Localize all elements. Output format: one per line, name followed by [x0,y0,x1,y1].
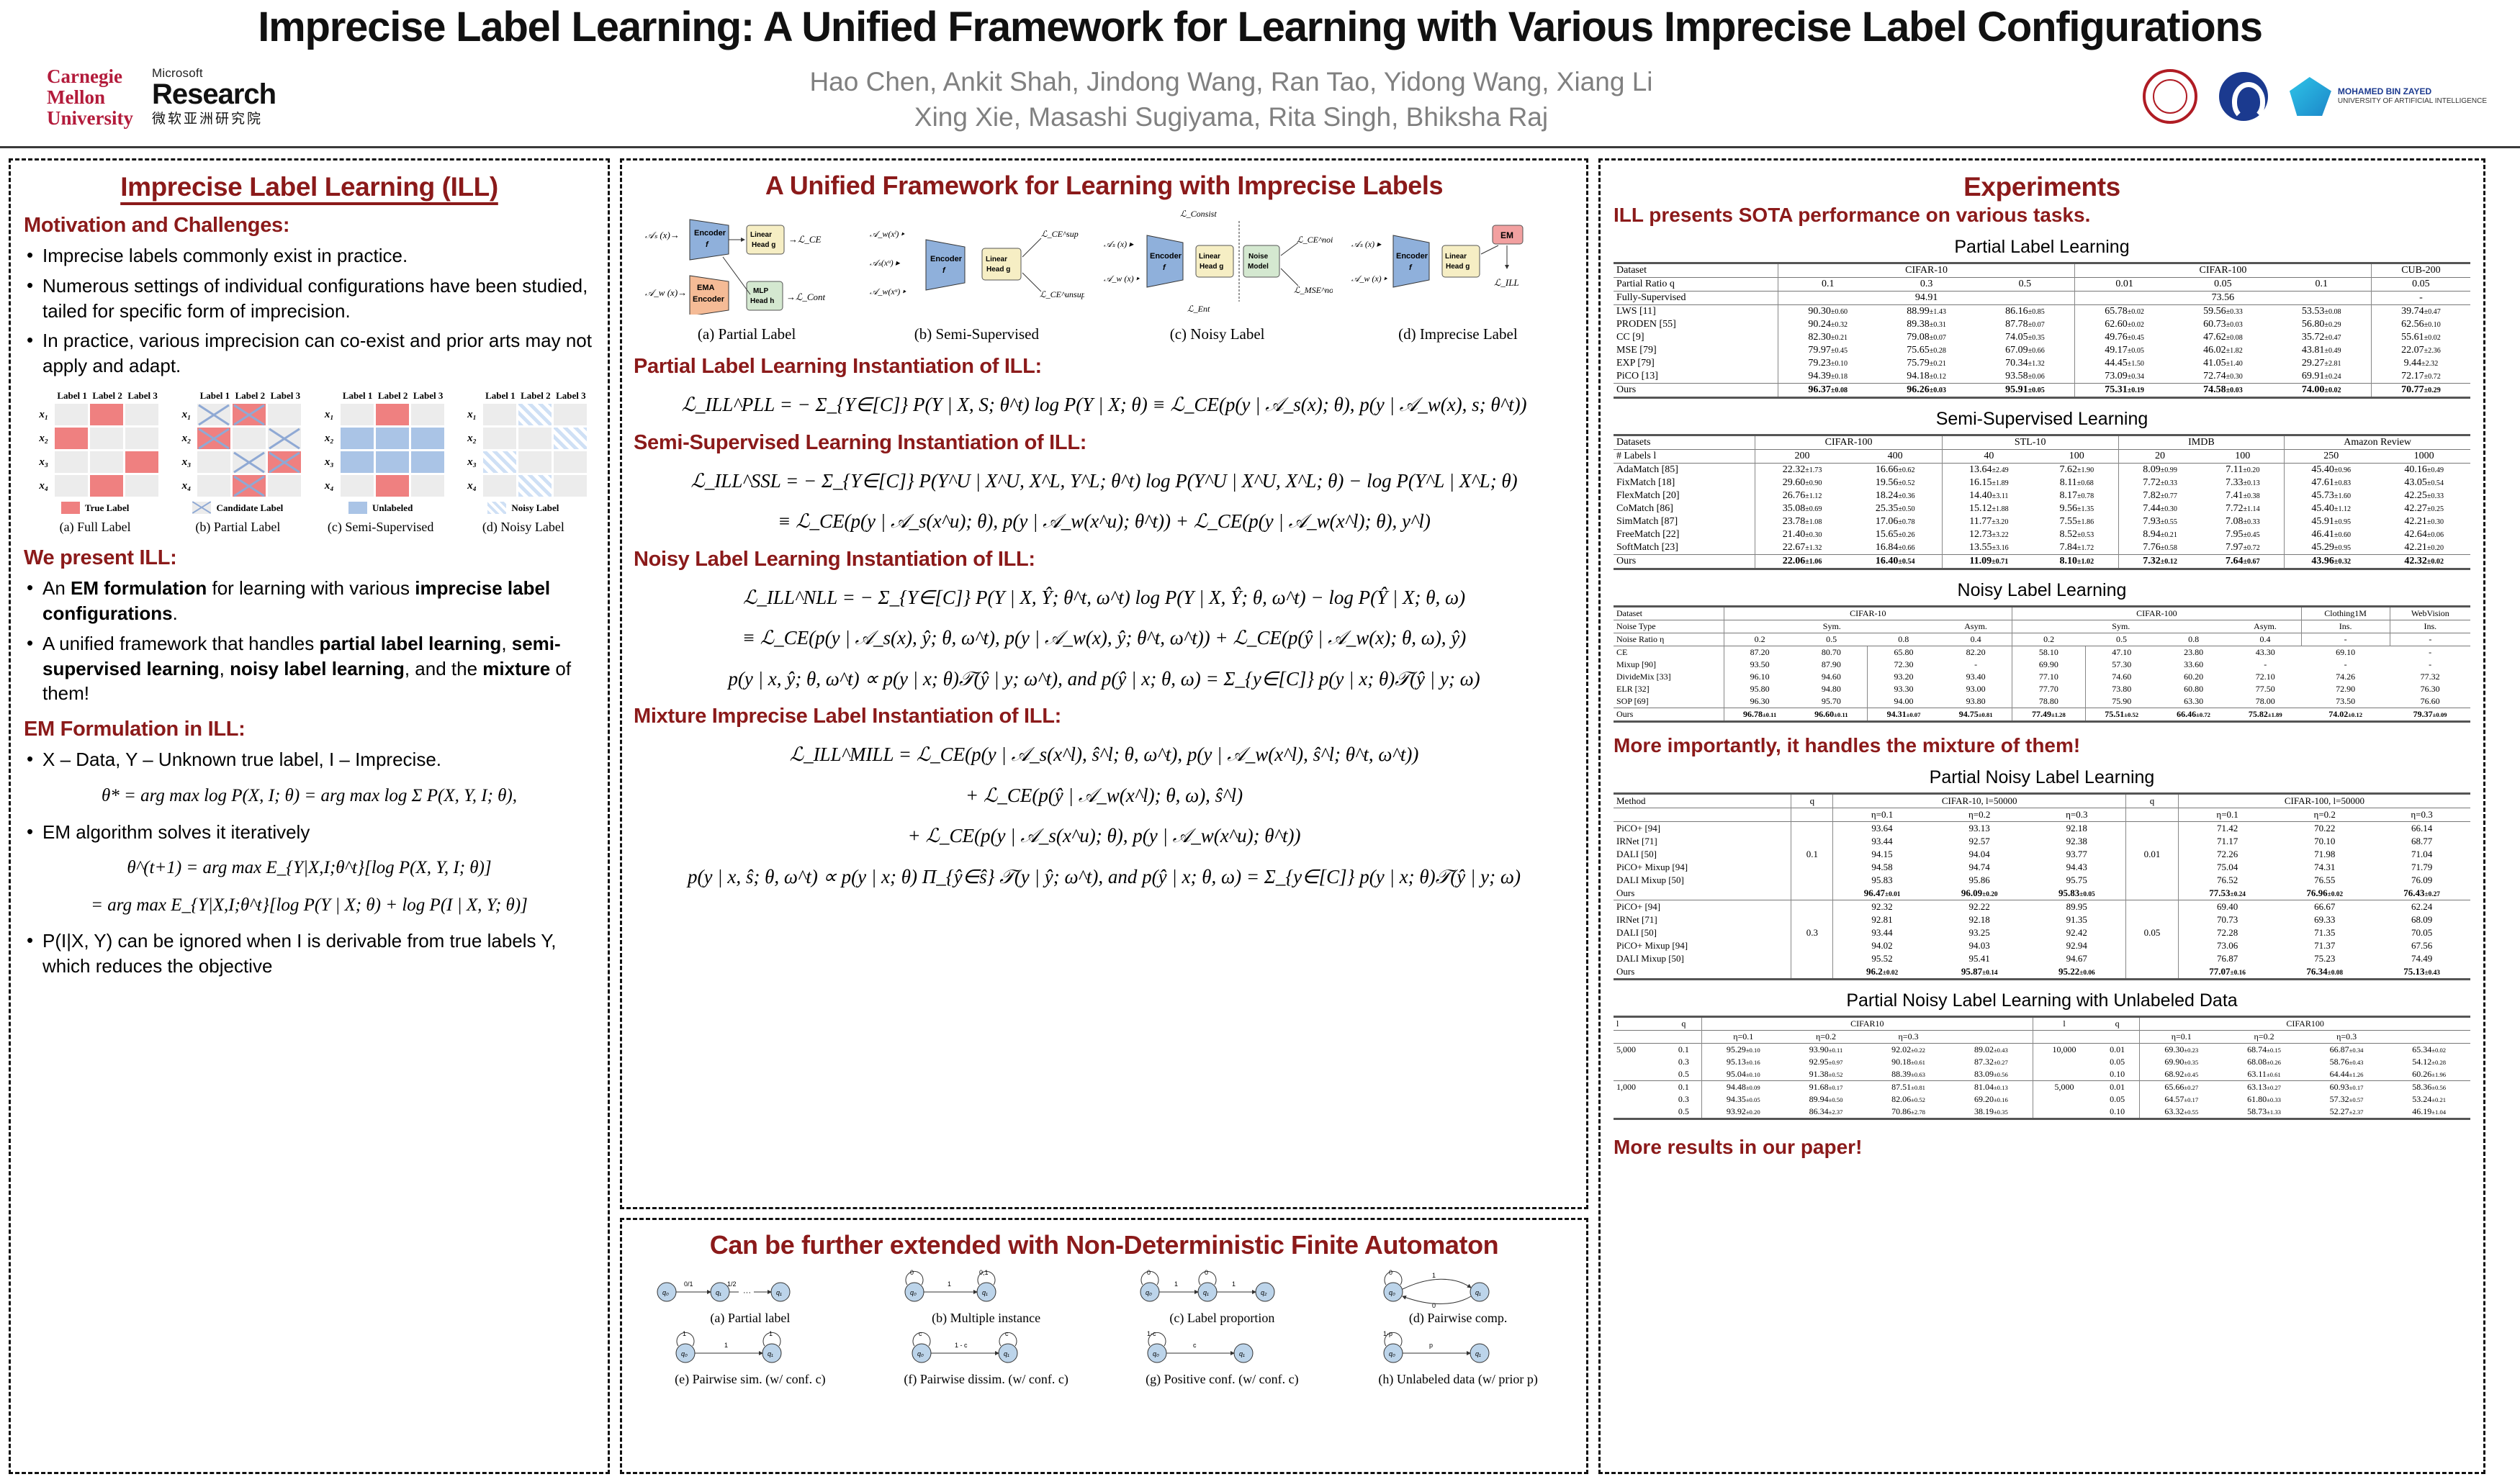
nfa-partial-label-svg: q₀ q₁ ··· q₁ 0/1 1/2 [649,1268,851,1308]
grid-cell [554,475,587,497]
table-row: AdaMatch [85]22.32±1.7316.66±0.6213.64±2… [1614,464,2470,477]
experiments-subtitle: ILL presents SOTA performance on various… [1614,204,2470,227]
grid-cell [554,451,587,473]
cell: 70.86±2.78 [1867,1106,1950,1119]
cell: CIFAR10 [1701,1017,2033,1031]
cell: 67.09±0.66 [1976,344,2075,357]
svg-text:ℒ_CE^unsup: ℒ_CE^unsup [1040,289,1084,299]
grid-header: Label 1 [341,390,374,402]
cell: 90.24±0.32 [1778,318,1878,331]
cell: 60.80 [2158,683,2230,695]
equation-em-iteration-2: = arg max E_{Y|X,I;θ^t}[log P(Y | X; θ) … [24,892,595,919]
row-label: Ours [1614,887,1791,900]
cell: 60.93±0.17 [2305,1081,2388,1094]
grid-cell [90,451,123,473]
cell: 93.77 [2028,848,2126,861]
row-label: Ours [1614,708,1724,722]
framework-diagrams: 𝒜ₛ (x)→ Encoderf LinearHead g →ℒ_CE 𝒜_w … [634,207,1575,343]
cell: 65.34±0.02 [2388,1044,2470,1057]
cell: Method [1614,794,1791,808]
row-label [2033,1093,2095,1106]
mbzuai-logo: MOHAMED BIN ZAYED UNIVERSITY OF ARTIFICI… [2290,77,2487,116]
pnll-table: Methodq CIFAR-10, l=50000 q CIFAR-100, l… [1614,792,2470,980]
cell: 57.32±0.57 [2305,1093,2388,1106]
cell: 88.39±0.63 [1867,1068,1950,1081]
cell: 7.76±0.58 [2118,541,2201,555]
row-label: PiCO+ Mixup [94] [1614,861,1791,874]
cell: 71.04 [2373,848,2470,861]
row-label: x₃ [31,456,53,469]
cell: 94.18±0.12 [1877,370,1976,384]
cell: Dataset [1614,607,1724,620]
cell: 65.80 [1867,646,1940,659]
grid-cell-true [90,404,123,425]
cell: 45.40±1.12 [2285,502,2378,515]
cell: 63.30 [2158,695,2230,708]
cell: 23.78±1.08 [1755,515,1849,528]
equation-mill-1: ℒ_ILL^MILL = ℒ_CE(p(y | 𝒜_s(x^l), ŝ^l; θ… [634,740,1575,769]
cell: 96.2±0.02 [1833,965,1931,980]
cell: 93.30 [1867,683,1940,695]
grid-cell [483,404,516,425]
experiments-title: Experiments [1614,172,2470,202]
row-label: SOP [69] [1614,695,1724,708]
table-row: PiCO+ Mixup [94]94.5894.7494.4375.0474.3… [1614,861,2470,874]
cell: 46.19±1.04 [2388,1106,2470,1119]
cell: 91.68±0.17 [1785,1081,1868,1094]
cell: 75.51±0.52 [2085,708,2158,722]
cell: 66.67 [2276,900,2373,914]
grid-cell [268,475,301,497]
legend-unlabeled: Unlabeled [317,502,445,514]
equation-theta-star: θ* = arg max log P(X, I; θ) = arg max lo… [24,782,595,810]
cell: 93.90±0.11 [1785,1044,1868,1057]
grid-cell-unlabeled [376,428,409,449]
nfa-positive-conf-svg: q₀ q₁ c 1-c [1121,1330,1323,1369]
list-item: X – Data, Y – Unknown true label, I – Im… [24,747,595,772]
cell: 75.90 [2085,695,2158,708]
svg-text:q₁: q₁ [1475,1350,1481,1357]
cell [2126,822,2179,836]
equation-mill-4: p(y | x, ŝ; θ, ω^t) ∝ p(y | x; θ) Π_{ŷ∈ŝ… [634,862,1575,892]
grid-column-headers: Label 1 Label 2 Label 3 [341,390,445,402]
cell: 73.56 [2075,292,2372,305]
cell: 75.79±0.21 [1877,357,1976,370]
grid-cell-unlabeled [411,428,444,449]
svg-text:𝒜_w(xˡ) ▸: 𝒜_w(xˡ) ▸ [870,229,905,239]
cell: 57.30 [2085,659,2158,671]
cell: 96.60±0.11 [1796,708,1868,722]
cell: CIFAR-10 [1778,263,2075,278]
right-logos: MOHAMED BIN ZAYED UNIVERSITY OF ARTIFICI… [2143,69,2487,124]
cell: 25.35±0.50 [1849,502,1943,515]
row-label: x₃ [174,456,195,469]
cell: 33.60 [2158,659,2230,671]
grid-cell-candidate [197,404,230,425]
author-line-1: Hao Chen, Ankit Shah, Jindong Wang, Ran … [634,65,1829,100]
cell: 93.00 [1940,683,2012,695]
grid-header: Label 3 [126,390,159,402]
svg-text:q₀: q₀ [917,1350,924,1357]
cell: 93.64 [1833,822,1931,836]
grid-cell-true-candidate [233,404,266,425]
row-label: x₄ [174,480,195,492]
svg-text:1: 1 [1174,1280,1178,1288]
cell: 1000 [2377,450,2470,464]
cell: 0.01 [2095,1044,2140,1057]
cell: 94.48±0.09 [1701,1081,1785,1094]
cell [1791,913,1833,926]
nfa-positive-conf: q₀ q₁ c 1-c (g) Positive conf. (w/ conf.… [1106,1330,1339,1387]
cell: 12.73±3.22 [1942,528,2035,541]
cell: η=0.1 [2178,808,2276,822]
table-row: Noise Ratio η0.20.50.80.40.20.50.80.4-- [1614,633,2470,646]
cell: 94.60 [1796,671,1868,683]
poster-header: Imprecise Label Learning: A Unified Fram… [0,0,2520,148]
cell: 71.37 [2276,939,2373,952]
cell: 46.41±0.60 [2285,528,2378,541]
grid-cell [268,404,301,425]
cell: 7.72±1.14 [2201,502,2284,515]
table-row: 0.593.92±0.2086.34±2.3770.86±2.7838.19±0… [1614,1106,2470,1119]
svg-text:0: 0 [910,1269,914,1276]
svg-text:Head h: Head h [750,297,774,305]
cell: 22.67±1.32 [1755,541,1849,555]
cell: 70.05 [2373,926,2470,939]
row-label: PiCO+ Mixup [94] [1614,939,1791,952]
cell: 0.1 [1778,278,1878,292]
cell: Ins. [2301,620,2390,633]
table-row: Fully-Supervised94.9173.56- [1614,292,2470,305]
grid-row: x₃ [459,451,588,473]
cell: 42.64±0.06 [2377,528,2470,541]
svg-text:ℒ_ILL: ℒ_ILL [1494,277,1519,288]
cell: 49.76±0.45 [2075,331,2174,344]
table-row: EXP [79]79.23±0.1075.79±0.2170.34±1.3244… [1614,357,2470,370]
cell: 67.56 [2373,939,2470,952]
row-label: 10,000 [2033,1044,2095,1057]
cell: 81.04±0.13 [1950,1081,2033,1094]
diagram-noisy-label-svg: ℒ_Consist ℒ_Ent 𝒜ₛ (x) ▸ 𝒜_w (x) ▸ Encod… [1102,207,1333,315]
grid-row: x₃ [31,451,159,473]
svg-text:EMA: EMA [697,284,715,292]
cell: 73.50 [2301,695,2390,708]
cell: 94.35±0.05 [1701,1093,1785,1106]
nfa-pairwise-sim-svg: q₀ q₁ 1 1 1 [649,1330,851,1369]
cell: 94.91 [1778,292,2075,305]
diagram-semi-supervised: 𝒜_w(xˡ) ▸ 𝒜ₛ(xᵘ) ▸ 𝒜_w(xᵘ) ▸ Encoderf Li… [868,207,1084,343]
row-label: Ours [1614,555,1755,569]
cell: 76.43±0.27 [2373,887,2470,900]
cell: Noise Type [1614,620,1724,633]
grid-cell-true [55,428,88,449]
cell: 0.01 [2095,1081,2140,1094]
cell: 93.40 [1940,671,2012,683]
table-row: SimMatch [87]23.78±1.0817.06±0.7811.77±3… [1614,515,2470,528]
grid-cell [197,451,230,473]
cell: 7.62±1.90 [2035,464,2118,477]
cell: 0.3 [1666,1093,1701,1106]
cell: 63.32±0.55 [2140,1106,2223,1119]
cell: 15.12±1.88 [1942,502,2035,515]
table-row: FixMatch [18]29.60±0.9019.56±0.5216.15±1… [1614,476,2470,489]
figure-partial-label: Label 1 Label 2 Label 3 x₁ x₂ x₃ x₄ Cand… [174,390,302,535]
svg-text:q₂: q₂ [1261,1289,1267,1296]
cell: 250 [2285,450,2378,464]
table-row: IRNet [71]93.4492.5792.3871.1770.1068.77 [1614,835,2470,848]
nfa-pairwise-dissim: q₀ q₁ 1 - c c c (f) Pairwise dissim. (w/… [870,1330,1103,1387]
cell: 89.94±0.50 [1785,1093,1868,1106]
cell: 400 [1849,450,1943,464]
cell: 70.73 [2178,913,2276,926]
cell: 92.22 [1931,900,2028,914]
grid-cell [483,428,516,449]
grid-cell-unlabeled [341,451,374,473]
cell: 95.13±0.16 [1701,1056,1785,1068]
svg-text:Head g: Head g [752,241,775,249]
cell [1791,965,1833,980]
grid-header: Label 2 [519,390,552,402]
cell: 0.5 [1666,1106,1701,1119]
table-row: SOP [69]96.3095.7094.0093.8078.8075.9063… [1614,695,2470,708]
cell: 0.4 [1940,633,2012,646]
cell: Sym. [2012,620,2230,633]
cell: STL-10 [1942,435,2118,450]
cell: 60.20 [2158,671,2230,683]
table-row: Ours96.78±0.1196.60±0.1194.31±0.0794.75±… [1614,708,2470,722]
svg-text:Linear: Linear [1445,253,1467,261]
cell: 69.40 [2178,900,2276,914]
cell: 94.67 [2028,952,2126,965]
cell: 76.09 [2373,874,2470,887]
cell: 76.34±0.08 [2276,965,2373,980]
cell: Amazon Review [2285,435,2470,450]
cell: 92.18 [2028,822,2126,836]
cell: 7.11±0.20 [2201,464,2284,477]
cell: 68.77 [2373,835,2470,848]
cell [2126,887,2179,900]
cell: 87.51±0.81 [1867,1081,1950,1094]
cell [1791,900,1833,914]
cell: 0.3 [1666,1056,1701,1068]
grid-row: x₁ [317,404,445,425]
cell: 100 [2035,450,2118,464]
table-row: PiCO+ [94]93.6493.1392.1871.4270.2266.14 [1614,822,2470,836]
diagram-semi-supervised-svg: 𝒜_w(xˡ) ▸ 𝒜ₛ(xᵘ) ▸ 𝒜_w(xᵘ) ▸ Encoderf Li… [868,207,1084,315]
cell: 0.05 [2371,278,2470,292]
svg-text:Model: Model [1248,263,1269,271]
grid-cell-candidate [233,451,266,473]
cell: η=0.3 [2305,1031,2388,1044]
cell: 54.12±0.28 [2388,1056,2470,1068]
cell: 93.44 [1833,835,1931,848]
cell: Clothing1M [2301,607,2390,620]
cell: 35.72±0.47 [2272,331,2372,344]
svg-text:ℒ_Ent: ℒ_Ent [1187,304,1210,314]
cell: 75.82±1.89 [2229,708,2301,722]
cell: Datasets [1614,435,1755,450]
cell: 77.32 [2390,671,2470,683]
framework-title: A Unified Framework for Learning with Im… [634,171,1575,201]
cell: 0.5 [1976,278,2075,292]
cell: 65.66±0.27 [2140,1081,2223,1094]
pnll-ul-table-body: 5,0000.195.29±0.1093.90±0.1192.02±0.2289… [1614,1044,2470,1119]
table-row: Ours96.37±0.0896.26±0.0395.91±0.0575.31±… [1614,384,2470,398]
cell: 68.08±0.26 [2223,1056,2305,1068]
grid-cell [125,475,158,497]
cell: 11.77±3.20 [1942,515,2035,528]
cell: 92.94 [2028,939,2126,952]
cell: 42.32±0.02 [2377,555,2470,569]
nfa-pairwise-sim: q₀ q₁ 1 1 1 (e) Pairwise sim. (w/ conf. … [634,1330,867,1387]
cell: Fully-Supervised [1614,292,1778,305]
cell [1791,861,1833,874]
svg-text:1: 1 [1432,1272,1436,1279]
cell: η=0.2 [2223,1031,2305,1044]
cell [1791,822,1833,836]
cell: 16.66±0.62 [1849,464,1943,477]
table-row: lq CIFAR10 lq CIFAR100 [1614,1017,2470,1031]
cell [1791,874,1833,887]
cell: 89.38±0.31 [1877,318,1976,331]
cell: 19.56±0.52 [1849,476,1943,489]
table-row: FlexMatch [20]26.76±1.1218.24±0.3614.40±… [1614,489,2470,502]
cell: 0.05 [2095,1056,2140,1068]
nfa-caption: (f) Pairwise dissim. (w/ conf. c) [870,1372,1103,1387]
cell: 94.00 [1867,695,1940,708]
grid-header: Label 2 [91,390,124,402]
table-row: DALI Mixup [50]95.8395.8695.7576.5276.55… [1614,874,2470,887]
svg-text:q₁: q₁ [776,1289,782,1296]
cell: 8.17±0.78 [2035,489,2118,502]
grid-cell [55,404,88,425]
cell: 86.16±0.85 [1976,305,2075,319]
cell: CIFAR-100 [1755,435,1942,450]
row-label: x₃ [459,456,481,469]
ssl-table-title: Semi-Supervised Learning [1614,409,2470,430]
svg-text:Head g: Head g [986,266,1010,274]
cell: 7.55±1.86 [2035,515,2118,528]
grid-header: Label 1 [55,390,89,402]
row-label: DALI Mixup [50] [1614,952,1791,965]
grid-cell-candidate [268,428,301,449]
table-row: # Labels l20040040100201002501000 [1614,450,2470,464]
grid-cell [55,451,88,473]
cell: 70.77±0.29 [2371,384,2470,398]
grid-column-headers: Label 1 Label 2 Label 3 [198,390,302,402]
figure-semi-supervised: Label 1 Label 2 Label 3 x₁ x₂ x₃ x₄ Unla… [317,390,445,535]
cell: Asym. [1940,620,2012,633]
cell: 60.73±0.03 [2174,318,2272,331]
equation-nll-1: ℒ_ILL^NLL = − Σ_{Y∈[C]} P(Y | X, Ŷ; θ^t,… [634,583,1575,613]
svg-text:0: 0 [1205,1269,1208,1276]
grid-row: x₄ [459,475,588,497]
equation-nll-2: ≡ ℒ_CE(p(y | 𝒜_s(x), ŷ; θ, ω^t), p(y | 𝒜… [634,623,1575,653]
grid-row: x₃ [317,451,445,473]
svg-text:ℒ_CE^sup: ℒ_CE^sup [1041,229,1079,239]
cell: 94.43 [2028,861,2126,874]
grid-cell [554,404,587,425]
cell: Dataset [1614,263,1778,278]
nfa-label-proportion-svg: q₀ q₁ q₂ 1 1 0 0 [1121,1268,1323,1308]
cell: q [2095,1017,2140,1031]
row-label: x₃ [317,456,338,469]
cell: 77.50 [2229,683,2301,695]
cell: 0.1 [1666,1081,1701,1094]
cell: 0.05 [2174,278,2272,292]
cell: Noise Ratio η [1614,633,1724,646]
cell [2126,835,2179,848]
svg-text:1: 1 [1232,1280,1236,1288]
cell: 77.10 [2012,671,2086,683]
cell: 9.44±2.32 [2371,357,2470,370]
cell [2126,939,2179,952]
grid-header: Label 3 [269,390,302,402]
cell: 65.78±0.02 [2075,305,2174,319]
svg-text:Encoder: Encoder [1150,252,1182,261]
cell: 72.90 [2301,683,2390,695]
cell: 79.97±0.45 [1778,344,1878,357]
svg-text:𝒜ₛ(xᵘ) ▸: 𝒜ₛ(xᵘ) ▸ [870,258,901,268]
table-row: MSE [79]79.97±0.4575.65±0.2867.09±0.6649… [1614,344,2470,357]
grid-cell [55,475,88,497]
cell: IMDB [2118,435,2285,450]
column-experiments: Experiments ILL presents SOTA performanc… [1598,158,2485,1474]
row-label: CC [9] [1614,331,1778,344]
svg-text:q₁: q₁ [768,1350,773,1357]
mill-instantiation-heading: Mixture Imprecise Label Instantiation of… [634,705,1575,728]
row-label: AdaMatch [85] [1614,464,1755,477]
panel-framework: A Unified Framework for Learning with Im… [620,158,1588,1209]
grid-cell [341,404,374,425]
cell: 92.02±0.22 [1867,1044,1950,1057]
grid-cell-true [90,475,123,497]
svg-text:p: p [1429,1342,1433,1349]
cell: 94.31±0.07 [1867,708,1940,722]
cell: 96.09±0.20 [1931,887,2028,900]
cell: CIFAR-100, l=50000 [2178,794,2470,808]
cell: 73.80 [2085,683,2158,695]
svg-text:ℒ_MSE^noise: ℒ_MSE^noise [1294,285,1333,295]
svg-text:c: c [1193,1342,1197,1349]
svg-text:→ℒ_CE: →ℒ_CE [788,234,822,245]
nfa-diagram-grid: q₀ q₁ ··· q₁ 0/1 1/2 (a) Partial label q… [634,1268,1575,1387]
cell: 93.58±0.06 [1976,370,2075,384]
cell: 76.60 [2390,695,2470,708]
cell: 42.27±0.25 [2377,502,2470,515]
equation-mill-2: + ℒ_CE(p(ŷ | 𝒜_w(x^l); θ, ω), ŝ^l) [634,781,1575,810]
cell [2126,913,2179,926]
cell: 43.30 [2229,646,2301,659]
grid-cell [125,428,158,449]
equation-nll-3: p(y | x, ŷ; θ, ω^t) ∝ p(y | x; θ)𝒯(ŷ | y… [634,664,1575,694]
cell: η=0.2 [1931,808,2028,822]
cell: 95.83 [1833,874,1931,887]
panel-nfa: Can be further extended with Non-Determi… [620,1218,1588,1474]
cell: 7.08±0.33 [2201,515,2284,528]
svg-text:q₁: q₁ [1004,1350,1009,1357]
cell: 47.61±0.83 [2285,476,2378,489]
cell: 93.13 [1931,822,2028,836]
row-label: x₂ [31,433,53,445]
row-label: PiCO+ [94] [1614,900,1791,914]
table-row: PRODEN [55]90.24±0.3289.38±0.3187.78±0.0… [1614,318,2470,331]
diagram-caption: (d) Imprecise Label [1350,325,1566,343]
row-label: x₂ [174,433,195,445]
cell: 15.65±0.26 [1849,528,1943,541]
svg-text:0,1: 0,1 [979,1269,989,1276]
em-formulation-heading: EM Formulation in ILL: [24,718,595,741]
